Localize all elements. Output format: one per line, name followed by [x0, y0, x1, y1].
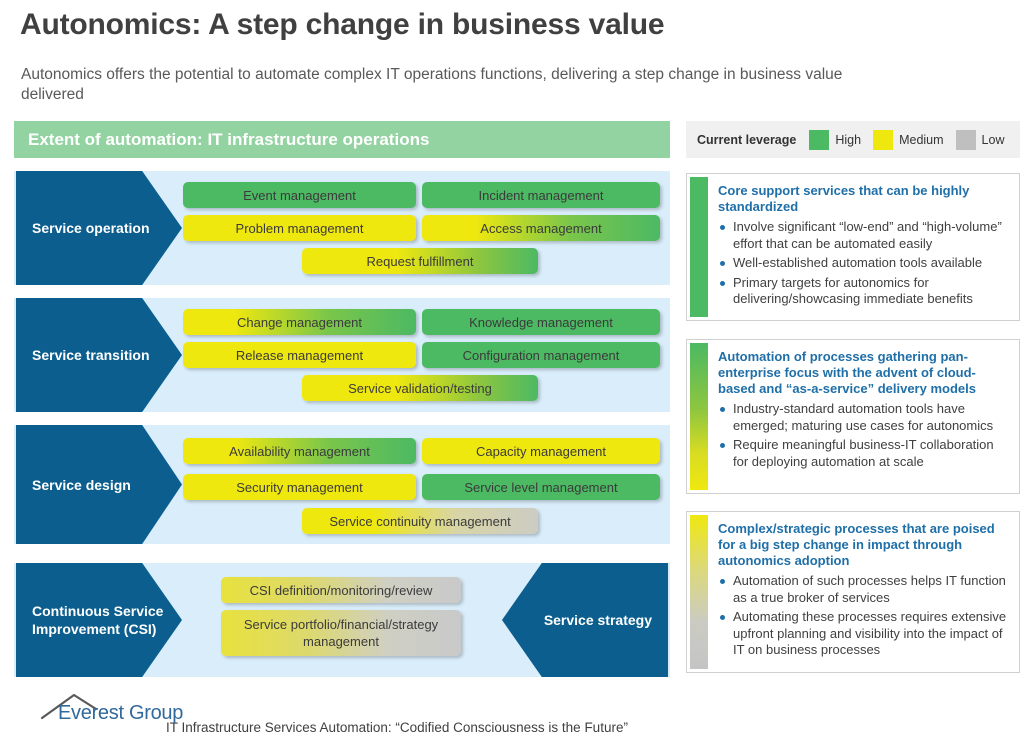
phase-label: Service operation: [32, 219, 150, 237]
legend-title: Current leverage: [697, 133, 796, 147]
page-subtitle: Autonomics offers the potential to autom…: [21, 65, 901, 105]
phase-label: Service design: [32, 476, 131, 494]
callout-panel-high: Core support services that can be highly…: [686, 173, 1020, 321]
process-pill[interactable]: Change management: [183, 309, 416, 335]
panel-body: Complex/strategic processes that are poi…: [708, 512, 1019, 672]
phase-chevron-csi: Continuous Service Improvement (CSI): [16, 563, 182, 677]
process-row-service-transition: Service transition Change management Kno…: [14, 298, 670, 412]
phase-chevron-service-operation: Service operation: [16, 171, 182, 285]
process-pill[interactable]: Configuration management: [422, 342, 660, 368]
legend-label-medium: Medium: [899, 133, 943, 147]
process-pill[interactable]: Capacity management: [422, 438, 660, 464]
process-pill[interactable]: Availability management: [183, 438, 416, 464]
process-pill[interactable]: CSI definition/monitoring/review: [221, 577, 461, 603]
process-pill[interactable]: Service level management: [422, 474, 660, 500]
panel-body: Core support services that can be highly…: [708, 174, 1019, 320]
process-pill[interactable]: Service validation/testing: [302, 375, 538, 401]
footer: Everest Group IT Infrastructure Services…: [40, 700, 628, 735]
panel-bullet: Industry-standard automation tools have …: [718, 401, 1008, 434]
callout-panel-high-to-medium: Automation of processes gathering pan-en…: [686, 339, 1020, 494]
legend: Current leverage High Medium Low: [686, 121, 1020, 158]
phase-chevron-service-transition: Service transition: [16, 298, 182, 412]
process-pill[interactable]: Event management: [183, 182, 416, 208]
legend-swatch-low-icon: [956, 130, 976, 150]
slide-canvas: Autonomics: A step change in business va…: [0, 0, 1024, 742]
panel-accent-bar-medium-to-low: [690, 515, 708, 669]
footer-note: IT Infrastructure Services Automation: “…: [166, 720, 628, 735]
legend-swatch-high-icon: [809, 130, 829, 150]
panel-bullet-list: Involve significant “low-end” and “high-…: [718, 219, 1008, 308]
panel-heading: Complex/strategic processes that are poi…: [718, 521, 1008, 569]
panel-bullet-list: Industry-standard automation tools have …: [718, 401, 1008, 470]
process-pill[interactable]: Incident management: [422, 182, 660, 208]
phase-chevron-service-design: Service design: [16, 425, 182, 544]
process-pill[interactable]: Knowledge management: [422, 309, 660, 335]
panel-accent-bar-high-to-medium: [690, 343, 708, 490]
section-header-label: Extent of automation: IT infrastructure …: [28, 130, 429, 150]
page-title: Autonomics: A step change in business va…: [20, 8, 664, 42]
legend-label-high: High: [835, 133, 861, 147]
legend-item-low: Low: [956, 130, 1005, 150]
phase-chevron-service-strategy: Service strategy: [502, 563, 668, 677]
panel-bullet: Primary targets for autonomics for deliv…: [718, 275, 1008, 308]
phase-label: Continuous Service Improvement (CSI): [32, 602, 182, 638]
process-row-service-operation: Service operation Event management Incid…: [14, 171, 670, 285]
legend-swatch-medium-icon: [873, 130, 893, 150]
panel-bullet: Automation of such processes helps IT fu…: [718, 573, 1008, 606]
legend-label-low: Low: [982, 133, 1005, 147]
logo-text: Everest Group: [58, 702, 183, 725]
section-header: Extent of automation: IT infrastructure …: [14, 121, 670, 158]
panel-heading: Automation of processes gathering pan-en…: [718, 349, 1008, 397]
everest-group-logo: Everest Group: [40, 700, 162, 732]
panel-accent-bar-high: [690, 177, 708, 317]
panel-bullet: Automating these processes requires exte…: [718, 609, 1008, 659]
process-pill[interactable]: Problem management: [183, 215, 416, 241]
process-pill[interactable]: Security management: [183, 474, 416, 500]
process-pill[interactable]: Service continuity management: [302, 508, 538, 534]
legend-item-high: High: [809, 130, 861, 150]
panel-bullet: Involve significant “low-end” and “high-…: [718, 219, 1008, 252]
phase-label: Service transition: [32, 346, 150, 364]
process-pill[interactable]: Request fulfillment: [302, 248, 538, 274]
process-pill[interactable]: Access management: [422, 215, 660, 241]
process-pill[interactable]: Service portfolio/financial/strategy man…: [221, 610, 461, 656]
panel-heading: Core support services that can be highly…: [718, 183, 1008, 215]
panel-body: Automation of processes gathering pan-en…: [708, 340, 1019, 493]
callout-panel-medium-to-low: Complex/strategic processes that are poi…: [686, 511, 1020, 673]
legend-item-medium: Medium: [873, 130, 943, 150]
process-pill[interactable]: Release management: [183, 342, 416, 368]
process-row-service-design: Service design Availability management C…: [14, 425, 670, 544]
phase-label-right: Service strategy: [544, 611, 652, 629]
process-row-csi: Continuous Service Improvement (CSI) Ser…: [14, 563, 670, 677]
panel-bullet: Require meaningful business-IT collabora…: [718, 437, 1008, 470]
panel-bullet-list: Automation of such processes helps IT fu…: [718, 573, 1008, 659]
panel-bullet: Well-established automation tools availa…: [718, 255, 1008, 272]
